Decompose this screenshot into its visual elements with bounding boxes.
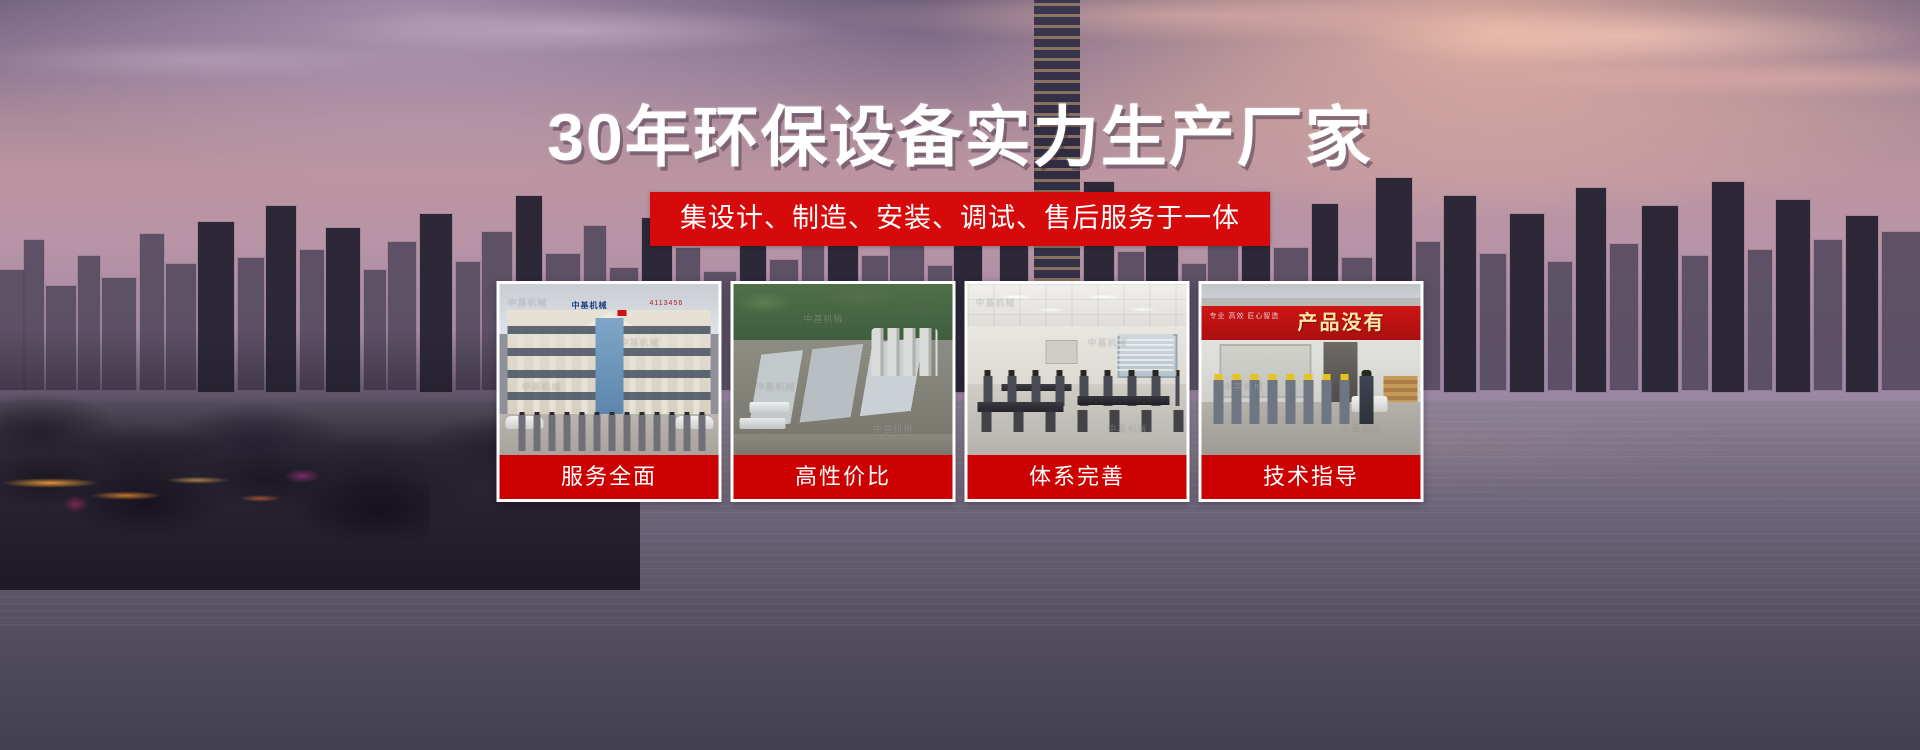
workshop-banner-text: 产品没有 (1298, 308, 1418, 338)
card-photo-factory-workshop-workers-helmets: 专业 高效 匠心智造 产品没有 中基机械 中基机械 (1202, 284, 1421, 455)
building-company-sign: 中基机械 (572, 300, 608, 311)
subtitle-banner: 集设计、制造、安装、调试、售后服务于一体 (650, 192, 1270, 246)
riverbank-lights (0, 455, 420, 525)
feature-card-service[interactable]: 中基机械 4113456 中基机械 中基机械 中基机械 服务全面 (497, 281, 722, 502)
feature-card-value[interactable]: 中基机械 中基机械 中基机械 高性价比 (731, 281, 956, 502)
card-label-value: 高性价比 (734, 455, 953, 499)
card-photo-company-office-building-with-staff: 中基机械 4113456 中基机械 中基机械 中基机械 (500, 284, 719, 455)
feature-card-system[interactable]: 中基机械 中基机械 中基机械 体系完善 (965, 281, 1190, 502)
feature-card-list: 中基机械 4113456 中基机械 中基机械 中基机械 服务全面 (497, 281, 1424, 502)
card-label-guidance: 技术指导 (1202, 455, 1421, 499)
card-label-service: 服务全面 (500, 455, 719, 499)
card-photo-office-interior-staff-workstations: 中基机械 中基机械 中基机械 (968, 284, 1187, 455)
hero-banner: 30年环保设备实力生产厂家 集设计、制造、安装、调试、售后服务于一体 中基机械 … (0, 0, 1920, 750)
card-photo-aerial-view-production-plant: 中基机械 中基机械 中基机械 (734, 284, 953, 455)
feature-card-guidance[interactable]: 专业 高效 匠心智造 产品没有 中基机械 中基机械 技术指导 (1199, 281, 1424, 502)
building-phone-sign: 4113456 (650, 300, 684, 307)
card-label-system: 体系完善 (968, 455, 1187, 499)
workshop-slogan-text: 专业 高效 匠心智造 (1210, 312, 1294, 322)
page-title: 30年环保设备实力生产厂家 (0, 104, 1920, 170)
